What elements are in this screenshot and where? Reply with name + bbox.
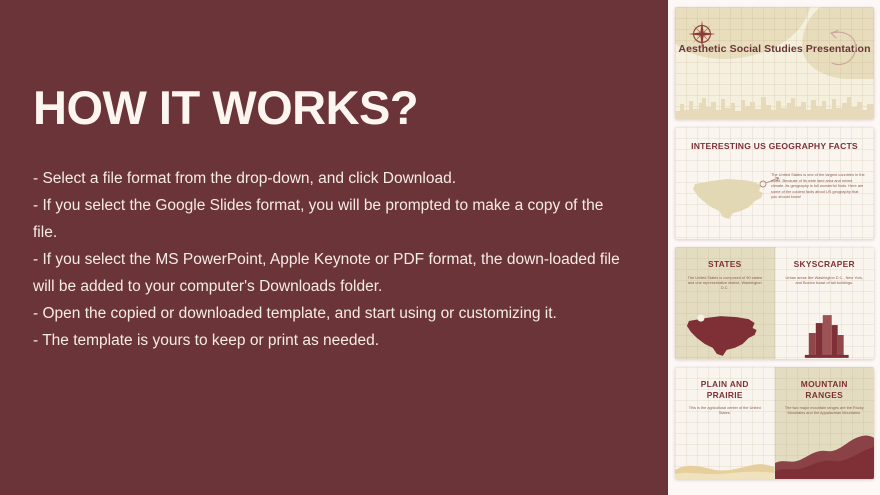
panel-heading: SKYSCRAPER (784, 259, 866, 270)
page-title: HOW IT WORKS? (33, 84, 418, 131)
panel-body-text: The United States is composed of 50 stat… (684, 276, 766, 292)
instruction-line: - If you select the Google Slides format… (33, 192, 623, 246)
skyscraper-icon (775, 311, 875, 359)
thumbnail-plain-mountains[interactable]: PLAIN AND PRAIRIE This is the agricultur… (675, 367, 874, 479)
prairie-hills-icon (675, 449, 775, 479)
instruction-line: - Open the copied or downloaded template… (33, 300, 623, 327)
thumbnail-rail[interactable]: Aesthetic Social Studies Presentation IN… (668, 0, 880, 495)
mountain-range-icon (775, 433, 875, 479)
thumbnail-geography-facts[interactable]: INTERESTING US GEOGRAPHY FACTS The Unite… (675, 127, 874, 239)
instruction-line: - The template is yours to keep or print… (33, 327, 623, 354)
instruction-line: - Select a file format from the drop-dow… (33, 165, 623, 192)
presentation-preview-screen: HOW IT WORKS? - Select a file format fro… (0, 0, 880, 495)
main-slide-canvas: HOW IT WORKS? - Select a file format fro… (0, 0, 668, 495)
thumbnail-cover[interactable]: Aesthetic Social Studies Presentation (675, 7, 874, 119)
panel-heading: STATES (684, 259, 766, 270)
panel-body-text: Urban areas like Washington D.C., New Yo… (784, 276, 866, 287)
curved-arrow-doodle-icon (820, 27, 860, 71)
panel-heading: PLAIN AND PRAIRIE (684, 379, 766, 400)
city-skyline-icon (675, 89, 874, 119)
panel-states: STATES The United States is composed of … (675, 247, 775, 359)
panel-heading: MOUNTAIN RANGES (784, 379, 866, 400)
instruction-line: - If you select the MS PowerPoint, Apple… (33, 246, 623, 300)
panel-mountain-ranges: MOUNTAIN RANGES The two major mountain r… (775, 367, 875, 479)
slide-heading: INTERESTING US GEOGRAPHY FACTS (685, 141, 864, 152)
panel-body-text: The two major mountain ranges are the Ro… (784, 406, 866, 417)
instructions-list: - Select a file format from the drop-dow… (33, 165, 623, 354)
panel-body-text: This is the agricultural center of the U… (684, 406, 766, 417)
panel-plain-prairie: PLAIN AND PRAIRIE This is the agricultur… (675, 367, 775, 479)
panel-skyscraper: SKYSCRAPER Urban areas like Washington D… (775, 247, 875, 359)
us-map-icon (675, 307, 775, 359)
slide-body-text: The United States is one of the largest … (771, 172, 865, 200)
thumbnail-states-skyscraper[interactable]: STATES The United States is composed of … (675, 247, 874, 359)
